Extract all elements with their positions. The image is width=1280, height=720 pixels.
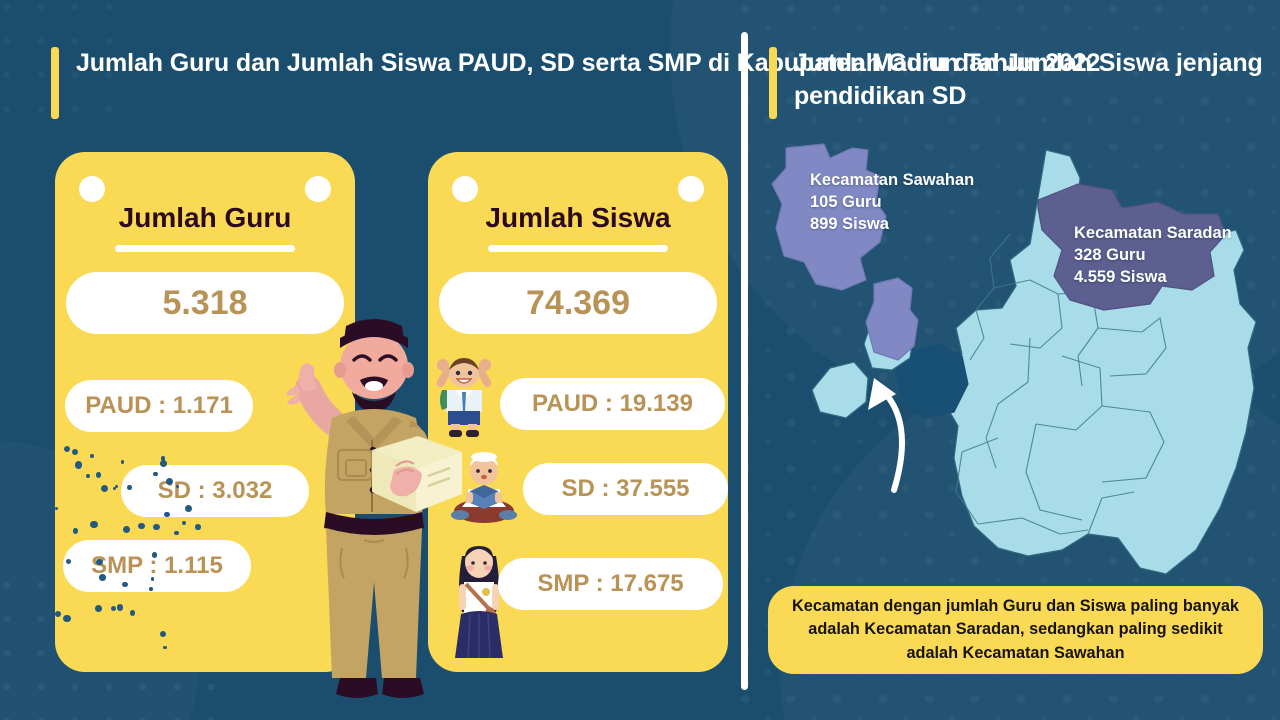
right-panel-title-text: Jumlah Guru dan Jumlah Siswa jenjang pen…: [794, 47, 1280, 112]
title-accent-bar: [51, 47, 59, 119]
callout-sawahan-teachers: 105 Guru: [810, 192, 974, 214]
card-guru-title: Jumlah Guru: [55, 202, 355, 234]
panel-divider: [741, 32, 748, 690]
card-hole-right-icon: [305, 176, 331, 202]
card-hole-right-icon: [678, 176, 704, 202]
callout-sawahan-students: 899 Siswa: [810, 214, 974, 236]
callout-saradan-students: 4.559 Siswa: [1074, 267, 1232, 289]
card-siswa-row-sd: SD : 37.555: [523, 463, 728, 515]
card-siswa-rule: [488, 245, 668, 252]
teacher-illustration: [268, 300, 473, 720]
card-siswa-total: 74.369: [439, 272, 717, 334]
card-jumlah-siswa: Jumlah Siswa 74.369: [428, 152, 728, 672]
card-hole-left-icon: [452, 176, 478, 202]
card-siswa-row-smp: SMP : 17.675: [498, 558, 723, 610]
map-caption-text: Kecamatan dengan jumlah Guru dan Siswa p…: [784, 595, 1247, 666]
infographic-canvas: Jumlah Guru dan Jumlah Siswa PAUD, SD se…: [0, 0, 1280, 720]
card-siswa-title: Jumlah Siswa: [428, 202, 728, 234]
title-accent-bar: [769, 47, 777, 119]
card-siswa-row-paud: PAUD : 19.139: [500, 378, 725, 430]
right-panel-title: Jumlah Guru dan Jumlah Siswa jenjang pen…: [769, 47, 1280, 119]
map-caption-box: Kecamatan dengan jumlah Guru dan Siswa p…: [768, 586, 1263, 674]
card-hole-left-icon: [79, 176, 105, 202]
card-guru-confetti-dots: [55, 422, 205, 672]
card-guru-rule: [115, 245, 295, 252]
callout-saradan-teachers: 328 Guru: [1074, 245, 1232, 267]
callout-saradan-district: Kecamatan Saradan: [1074, 223, 1232, 245]
map-callout-saradan: Kecamatan Saradan 328 Guru 4.559 Siswa: [1074, 223, 1232, 288]
callout-sawahan-district: Kecamatan Sawahan: [810, 170, 974, 192]
map-callout-sawahan: Kecamatan Sawahan 105 Guru 899 Siswa: [810, 170, 974, 235]
